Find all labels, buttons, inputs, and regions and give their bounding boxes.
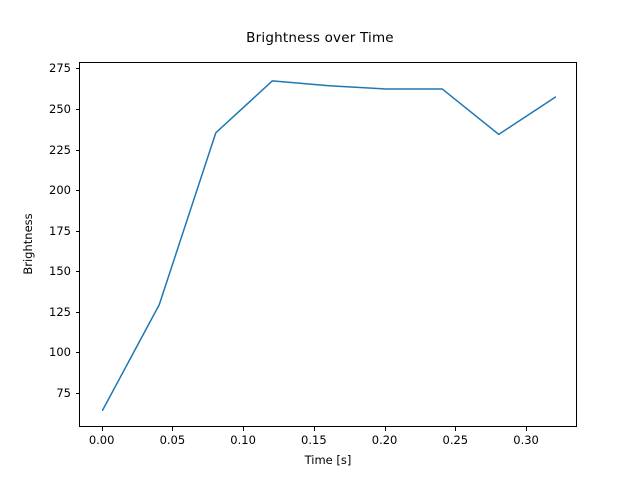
y-tick-label: 225 [49, 143, 71, 157]
y-tick-mark [76, 231, 80, 232]
y-tick-label: 200 [49, 183, 71, 197]
y-tick-mark [76, 271, 80, 272]
y-tick-mark [76, 190, 80, 191]
y-tick-label: 75 [56, 386, 71, 400]
plot-area [79, 62, 577, 427]
x-tick-label: 0.05 [160, 433, 186, 447]
x-tick-mark [455, 427, 456, 431]
y-tick-mark [76, 68, 80, 69]
y-tick-label: 100 [49, 345, 71, 359]
y-axis-label: Brightness [21, 213, 35, 274]
x-tick-mark [172, 427, 173, 431]
y-tick-label: 150 [49, 264, 71, 278]
y-tick-mark [76, 312, 80, 313]
x-tick-label: 0.10 [230, 433, 256, 447]
y-tick-label: 275 [49, 61, 71, 75]
chart-title: Brightness over Time [0, 30, 640, 46]
y-tick-mark [76, 352, 80, 353]
brightness-line [103, 81, 556, 410]
y-tick-mark [76, 150, 80, 151]
x-tick-mark [102, 427, 103, 431]
x-tick-mark [243, 427, 244, 431]
y-tick-label: 125 [49, 305, 71, 319]
line-series-svg [80, 63, 578, 428]
x-tick-mark [385, 427, 386, 431]
y-tick-label: 175 [49, 224, 71, 238]
x-tick-label: 0.15 [301, 433, 327, 447]
chart-figure: Brightness over Time Time [s] Brightness… [0, 0, 640, 480]
x-tick-label: 0.00 [89, 433, 115, 447]
x-axis-label: Time [s] [79, 453, 577, 467]
x-tick-mark [526, 427, 527, 431]
x-tick-label: 0.20 [372, 433, 398, 447]
x-tick-mark [314, 427, 315, 431]
y-tick-mark [76, 393, 80, 394]
y-tick-label: 250 [49, 102, 71, 116]
x-tick-label: 0.25 [443, 433, 469, 447]
y-tick-mark [76, 109, 80, 110]
x-tick-label: 0.30 [513, 433, 539, 447]
